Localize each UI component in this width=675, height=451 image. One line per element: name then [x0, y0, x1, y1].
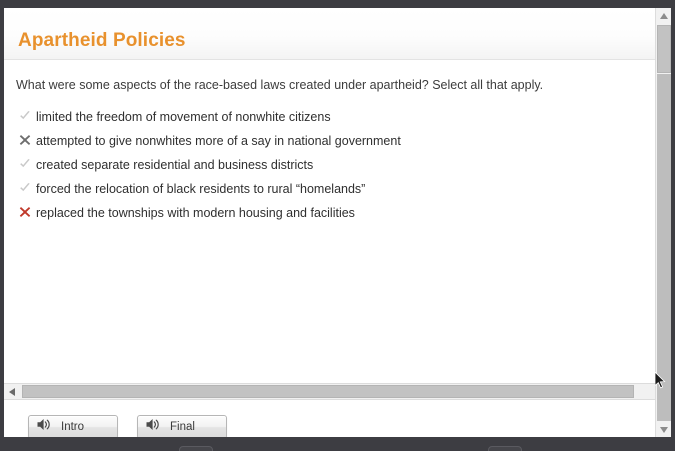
horizontal-scrollbar-thumb[interactable]	[22, 385, 634, 398]
cross-icon	[16, 129, 34, 153]
check-icon	[16, 105, 34, 129]
content-area: What were some aspects of the race-based…	[4, 61, 671, 376]
check-icon	[16, 177, 34, 201]
window-bottom-bar	[0, 437, 675, 451]
question-text: What were some aspects of the race-based…	[16, 78, 543, 92]
chevron-left-icon[interactable]	[4, 384, 21, 399]
final-audio-label: Final	[170, 421, 195, 433]
check-icon	[16, 153, 34, 177]
list-item: limited the freedom of movement of nonwh…	[16, 105, 636, 129]
chevron-down-icon[interactable]	[656, 421, 671, 437]
final-audio-button[interactable]: Final	[137, 415, 227, 437]
list-item-label: forced the relocation of black residents…	[36, 177, 365, 201]
list-item: created separate residential and busines…	[16, 153, 636, 177]
page-body: Apartheid Policies What were some aspect…	[4, 8, 671, 437]
page-header: Apartheid Policies	[4, 8, 671, 60]
list-item: replaced the townships with modern housi…	[16, 201, 636, 225]
list-item-label: replaced the townships with modern housi…	[36, 201, 355, 225]
list-item: forced the relocation of black residents…	[16, 177, 636, 201]
speaker-icon	[37, 418, 52, 436]
intro-audio-button[interactable]: Intro	[28, 415, 118, 437]
window-right-edge	[671, 8, 675, 437]
vertical-scrollbar-thumb[interactable]	[657, 25, 671, 73]
app-window: Apartheid Policies What were some aspect…	[0, 0, 675, 451]
list-item-label: created separate residential and busines…	[36, 153, 313, 177]
intro-audio-label: Intro	[61, 421, 84, 433]
answer-list: limited the freedom of movement of nonwh…	[16, 105, 636, 225]
taskbar-button-left[interactable]	[179, 446, 213, 451]
horizontal-scrollbar[interactable]	[4, 383, 671, 400]
list-item-label: limited the freedom of movement of nonwh…	[36, 105, 331, 129]
vertical-scrollbar-track[interactable]	[657, 74, 671, 421]
audio-toolbar: Intro Final	[4, 401, 671, 437]
page-title: Apartheid Policies	[18, 30, 186, 52]
taskbar-button-right[interactable]	[488, 446, 522, 451]
cross-icon	[16, 201, 34, 225]
vertical-scrollbar[interactable]	[655, 8, 671, 437]
chevron-up-icon[interactable]	[656, 8, 671, 24]
list-item-label: attempted to give nonwhites more of a sa…	[36, 129, 401, 153]
speaker-icon	[146, 418, 161, 436]
list-item: attempted to give nonwhites more of a sa…	[16, 129, 636, 153]
window-top-bar	[0, 0, 675, 8]
